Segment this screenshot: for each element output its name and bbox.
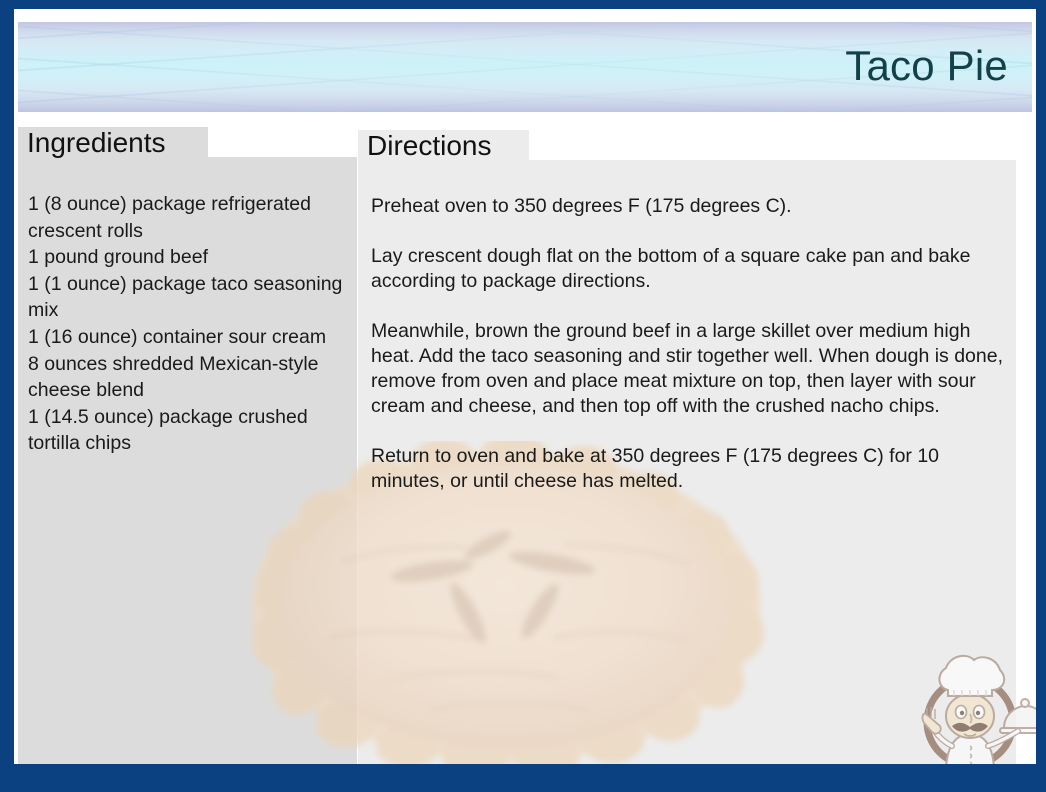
list-item: 8 ounces shredded Mexican-style cheese b… bbox=[28, 351, 358, 404]
list-item: 1 (16 ounce) container sour cream bbox=[28, 324, 358, 351]
directions-steps: Preheat oven to 350 degrees F (175 degre… bbox=[371, 194, 1011, 494]
list-item: 1 (8 ounce) package refrigerated crescen… bbox=[28, 191, 358, 244]
ingredients-list: 1 (8 ounce) package refrigerated crescen… bbox=[28, 191, 358, 457]
list-item: 1 (1 ounce) package taco seasoning mix bbox=[28, 271, 358, 324]
direction-step: Lay crescent dough flat on the bottom of… bbox=[371, 244, 1011, 294]
ingredients-heading-tab: Ingredients bbox=[18, 127, 208, 158]
list-item: 1 (14.5 ounce) package crushed tortilla … bbox=[28, 404, 358, 457]
directions-heading-label: Directions bbox=[367, 132, 491, 160]
direction-step: Meanwhile, brown the ground beef in a la… bbox=[371, 319, 1011, 419]
recipe-card-slide: Taco Pie bbox=[0, 0, 1046, 792]
ingredients-heading-label: Ingredients bbox=[27, 129, 166, 157]
direction-step: Return to oven and bake at 350 degrees F… bbox=[371, 444, 1011, 494]
direction-step: Preheat oven to 350 degrees F (175 degre… bbox=[371, 194, 1011, 219]
list-item: 1 pound ground beef bbox=[28, 244, 358, 271]
directions-heading-tab: Directions bbox=[358, 130, 529, 161]
page-title: Taco Pie bbox=[845, 45, 1008, 87]
recipe-card-page: Taco Pie bbox=[14, 9, 1036, 764]
header-banner: Taco Pie bbox=[18, 22, 1032, 112]
